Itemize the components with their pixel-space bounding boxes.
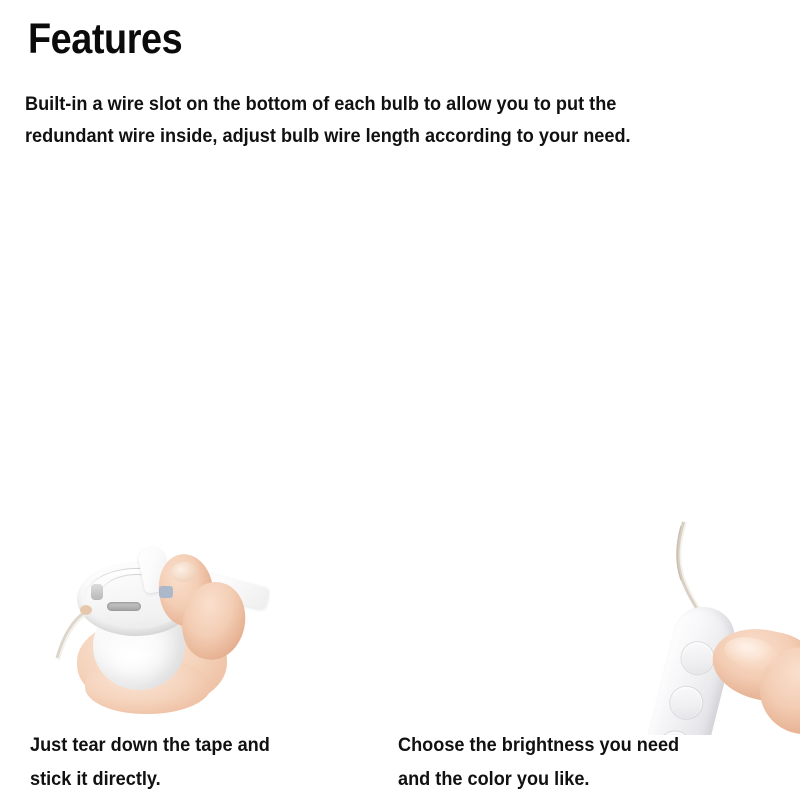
- caption-left: Just tear down the tape and stick it dir…: [30, 728, 374, 796]
- photo-hand-peeling-tape: [55, 540, 270, 720]
- intro-paragraph: Built-in a wire slot on the bottom of ea…: [25, 88, 746, 152]
- wire-slot-notch: [107, 602, 141, 611]
- dimmer-button-top[interactable]: [678, 639, 717, 678]
- dimmer-button-middle[interactable]: [667, 683, 706, 722]
- caption-right: Choose the brightness you need and the c…: [398, 728, 761, 796]
- redundant-wire-coiled: [0, 300, 800, 540]
- photo-dimmer-switch: [620, 520, 800, 735]
- tape-backing-accent: [159, 586, 173, 598]
- page-title: Features: [28, 14, 182, 64]
- photo-top-bulb-pair: [0, 175, 800, 305]
- wire-slot-notch-secondary: [91, 584, 103, 600]
- photo-center-bulb-pair: [0, 300, 800, 540]
- feature-page: Features Built-in a wire slot on the bot…: [0, 0, 800, 800]
